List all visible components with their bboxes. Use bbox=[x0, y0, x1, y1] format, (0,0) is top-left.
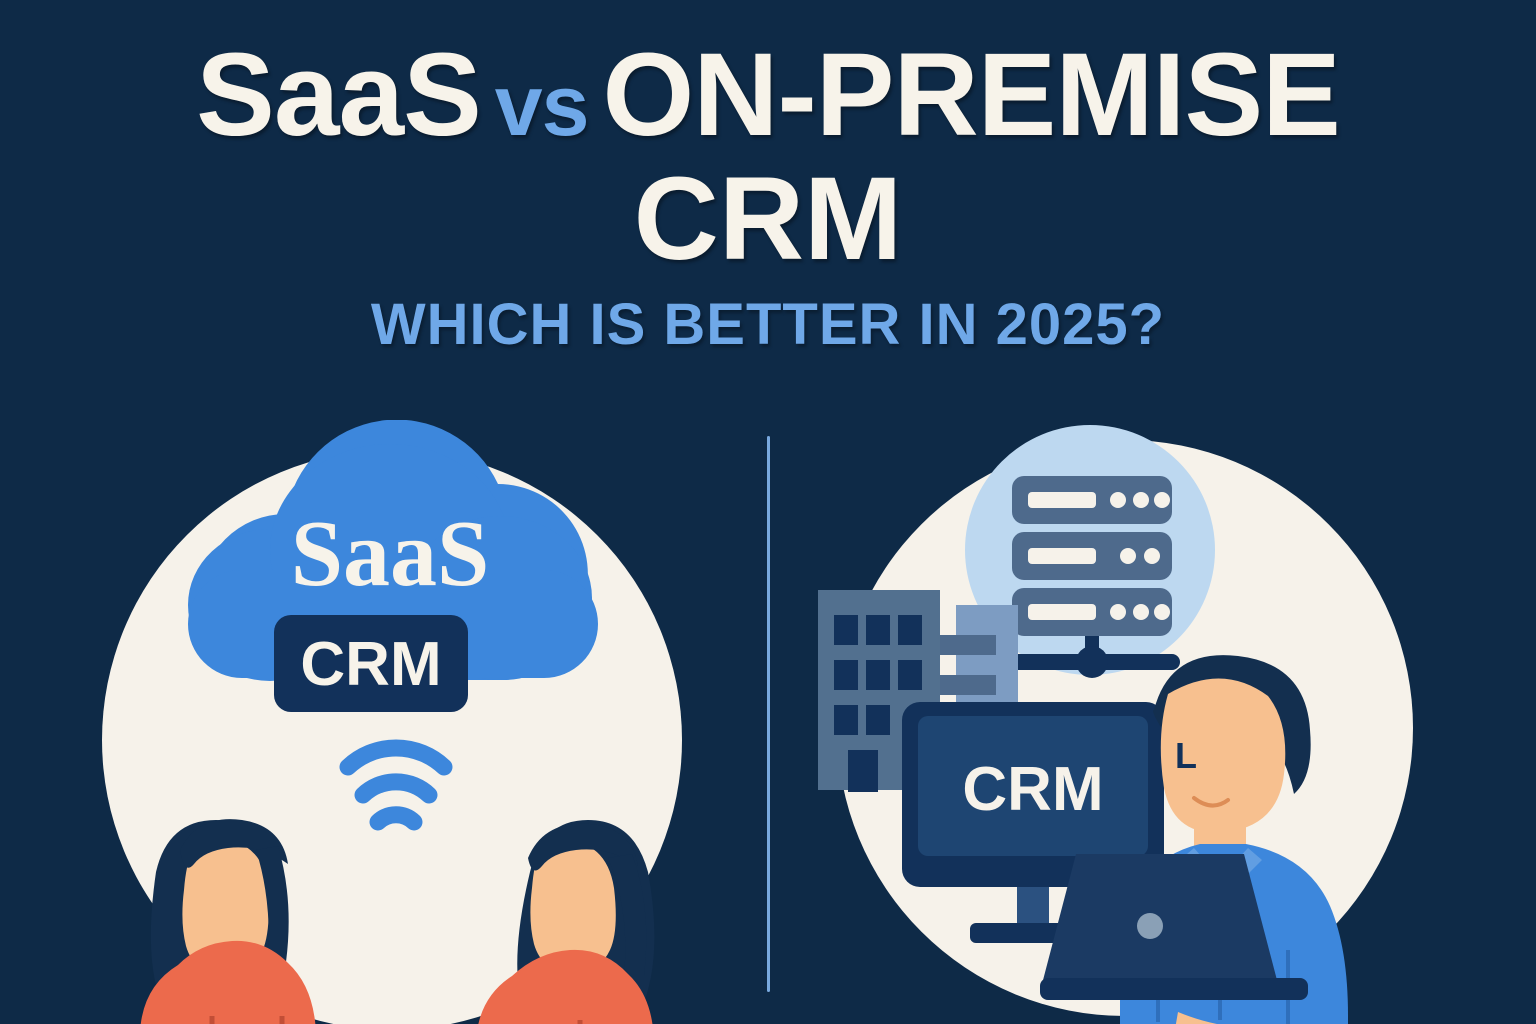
poster-canvas: SaaSvsON-PREMISE CRM WHICH IS BETTER IN … bbox=[0, 0, 1536, 1024]
cloud-label: SaaS bbox=[291, 502, 490, 606]
title-line-1: SaaSvsON-PREMISE bbox=[0, 36, 1536, 154]
saas-illustration-panel: SaaS CRM bbox=[60, 420, 760, 1024]
crm-badge-label: CRM bbox=[300, 630, 441, 699]
title-word-vs: vs bbox=[481, 58, 603, 154]
monitor-label: CRM bbox=[962, 755, 1103, 824]
crm-badge: CRM bbox=[274, 615, 468, 712]
title-line-2: CRM bbox=[0, 160, 1536, 278]
page-subtitle: WHICH IS BETTER IN 2025? bbox=[0, 296, 1536, 354]
headline-block: SaaSvsON-PREMISE CRM WHICH IS BETTER IN … bbox=[0, 36, 1536, 354]
onpremise-illustration-panel: CRM L bbox=[790, 420, 1490, 1024]
face-glyph: L bbox=[1175, 735, 1197, 776]
title-word-onpremise: ON-PREMISE bbox=[602, 29, 1339, 161]
title-word-saas: SaaS bbox=[196, 29, 481, 161]
vertical-divider bbox=[767, 436, 770, 992]
